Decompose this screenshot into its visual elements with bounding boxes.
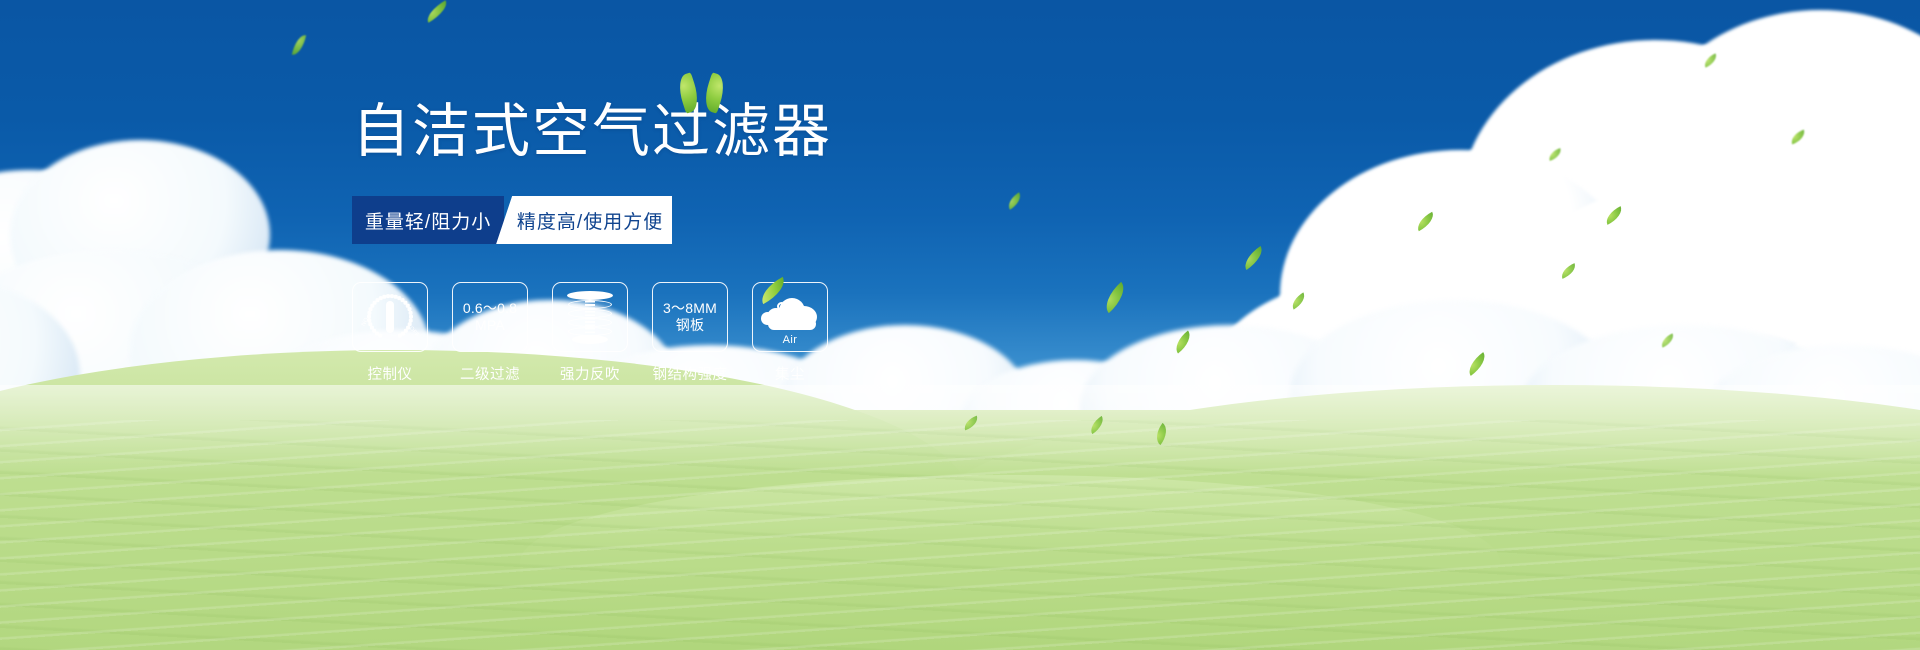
feature-item-backblow[interactable]: 强力反吹 — [552, 282, 628, 384]
title-leaf-decoration — [676, 72, 732, 116]
leaf-icon — [675, 72, 703, 113]
tag-weight-resistance[interactable]: 重量轻/阻力小 — [352, 196, 504, 244]
gauge-tick-dot — [379, 334, 382, 337]
pressure-text-icon: 0.6～0.8MPA — [463, 300, 517, 334]
gauge-tick-dot — [402, 332, 405, 335]
feature-icon-box: NO OFF — [352, 282, 428, 352]
gauge-tick-dot — [409, 315, 412, 318]
gauge-tick-dot — [398, 334, 401, 337]
filter-cartridge-icon — [567, 291, 613, 343]
gauge-tick-dot — [387, 295, 390, 298]
feature-icon-box: 3～8MM钢板 — [652, 282, 728, 352]
gauge-tick-dot — [373, 301, 376, 304]
feature-item-dust[interactable]: Air 集尘 — [752, 282, 828, 384]
feature-item-controller[interactable]: NO OFF 控制仪 — [352, 282, 428, 384]
gauge-tick-dot — [390, 295, 393, 298]
steel-plate-text-icon: 3～8MM钢板 — [663, 300, 717, 334]
feature-icon-box — [552, 282, 628, 352]
leaf-icon — [701, 72, 729, 113]
hero-banner: 自洁式空气过滤器 重量轻/阻力小 精度高/使用方便 NO OFF — [0, 0, 1920, 650]
tag-precision-convenience[interactable]: 精度高/使用方便 — [496, 196, 672, 244]
gauge-tick-dot — [383, 295, 386, 298]
gauge-controller-icon: NO OFF — [362, 292, 418, 342]
feature-item-steel[interactable]: 3～8MM钢板 钢结构强度 — [652, 282, 728, 384]
feature-icon-box: Air — [752, 282, 828, 352]
gauge-tick-dot — [409, 319, 412, 322]
page-title: 自洁式空气过滤器 — [352, 96, 1112, 168]
feature-label: 二级过滤 — [452, 363, 528, 384]
title-row: 自洁式空气过滤器 — [352, 96, 1112, 174]
feature-label: 钢结构强度 — [652, 363, 728, 384]
feature-label: 集尘 — [752, 363, 828, 384]
gauge-needle — [386, 301, 394, 333]
air-label: Air — [761, 334, 819, 346]
gauge-tick-dot — [369, 308, 372, 311]
floating-leaf — [423, 0, 451, 23]
floating-leaf — [292, 33, 306, 57]
feature-label: 控制仪 — [352, 363, 428, 384]
feature-icon-box: 0.6～0.8MPA — [452, 282, 528, 352]
feature-item-pressure[interactable]: 0.6～0.8MPA 二级过滤 — [452, 282, 528, 384]
gauge-tick-dot — [408, 308, 411, 311]
gauge-tick-dot — [371, 304, 374, 307]
gauge-tick-dot — [404, 329, 407, 332]
tag-group: 重量轻/阻力小 精度高/使用方便 — [352, 196, 672, 244]
gauge-tick-dot — [368, 311, 371, 314]
air-cloud-icon: Air — [761, 292, 819, 342]
grass-field — [0, 410, 1920, 650]
feature-label: 强力反吹 — [552, 363, 628, 384]
feature-list: NO OFF 控制仪 0.6～0.8MPA 二级过滤 — [352, 282, 1112, 384]
banner-content: 自洁式空气过滤器 重量轻/阻力小 精度高/使用方便 NO OFF — [352, 96, 1112, 384]
gauge-tick-dot — [409, 311, 412, 314]
